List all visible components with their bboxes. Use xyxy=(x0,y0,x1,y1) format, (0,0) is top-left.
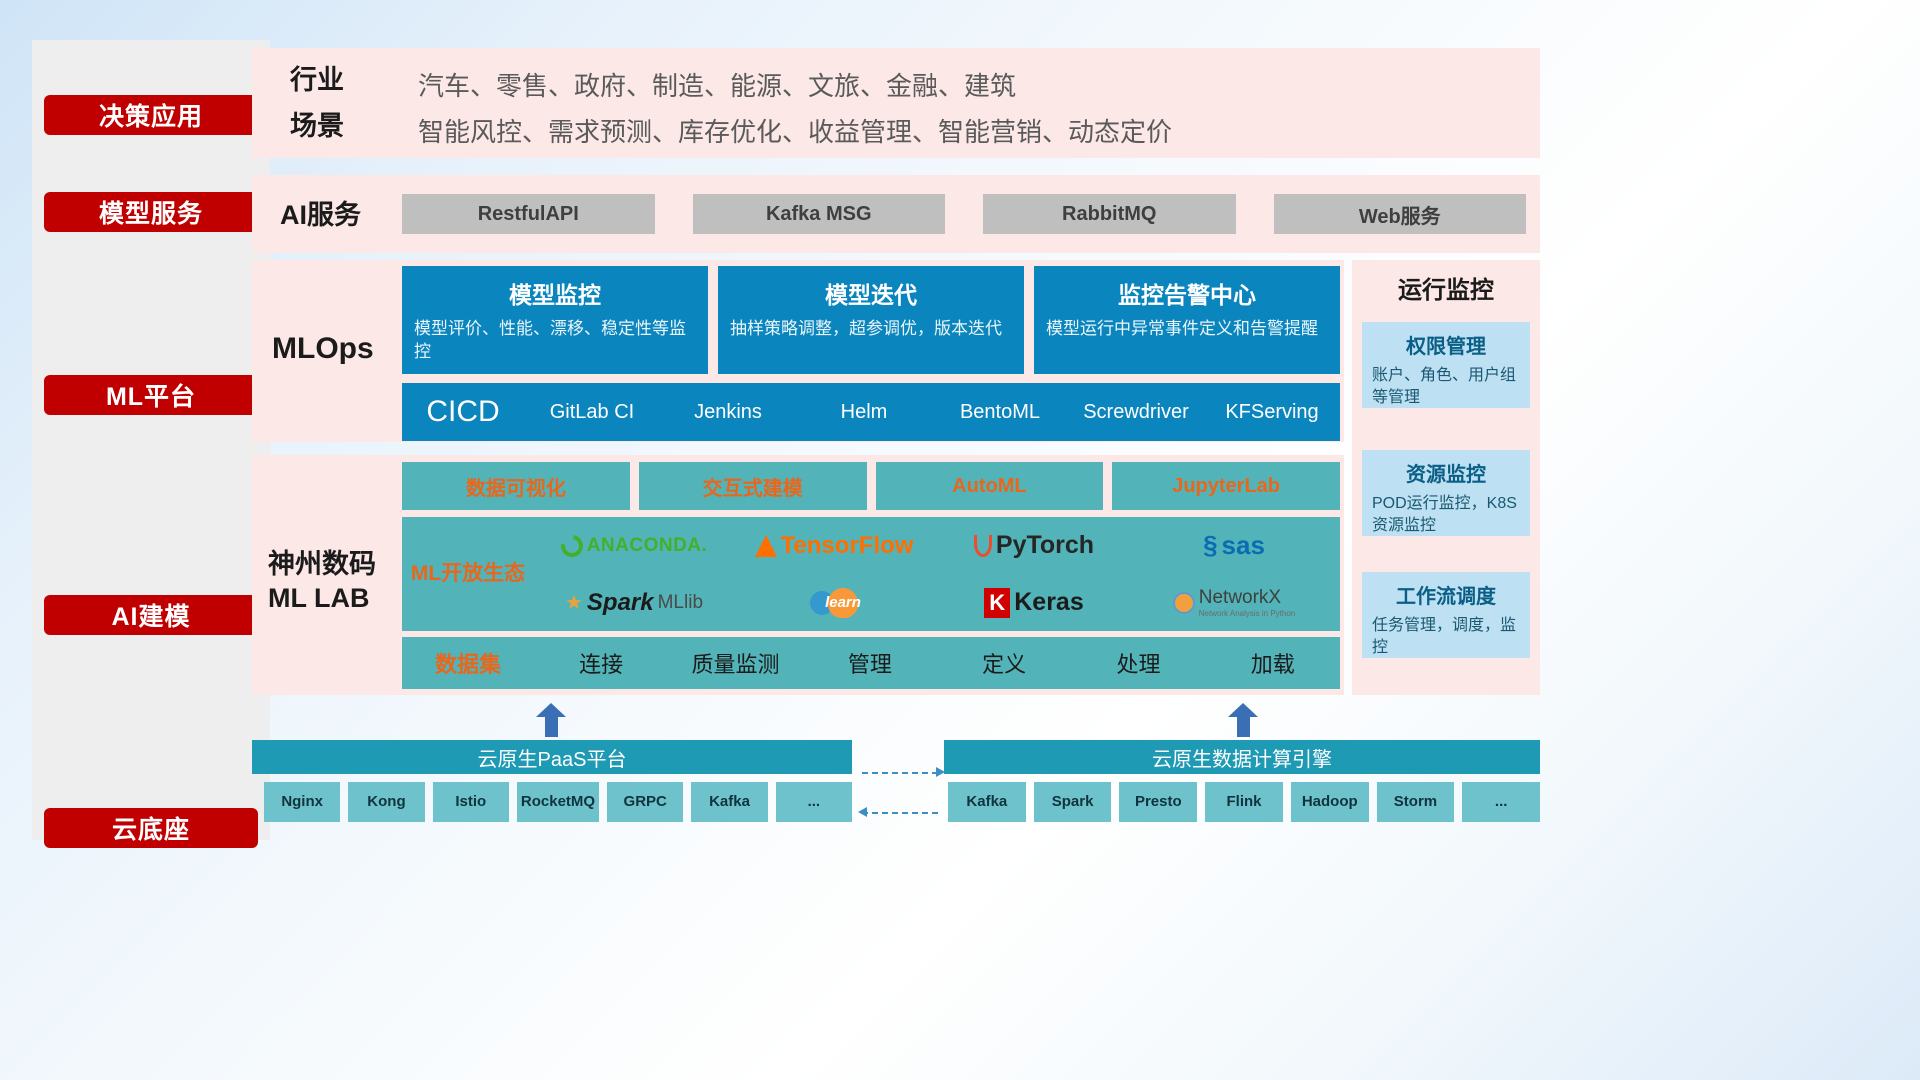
lab-chip-data-visualization[interactable]: 数据可视化 xyxy=(402,462,630,510)
logo-label: Keras xyxy=(1014,588,1084,617)
sidebar-item-label: AI建模 xyxy=(111,597,190,633)
logo-sublabel: Network Analysis in Python xyxy=(1199,609,1296,618)
chip-label: RestfulAPI xyxy=(478,203,579,226)
tag-presto[interactable]: Presto xyxy=(1119,782,1197,822)
tag-rocketmq[interactable]: RocketMQ xyxy=(517,782,599,822)
tag-spark[interactable]: Spark xyxy=(1034,782,1112,822)
mlops-card-model-monitoring[interactable]: 模型监控 模型评价、性能、漂移、稳定性等监控 xyxy=(402,266,708,374)
arrow-up-paas-icon xyxy=(536,703,566,737)
dashed-connector-right xyxy=(862,772,938,774)
ml-lab-label: 神州数码 ML LAB xyxy=(268,548,376,616)
dataset-item-process[interactable]: 处理 xyxy=(1071,647,1205,679)
dataset-item-connect[interactable]: 连接 xyxy=(534,647,668,679)
scikit-orange-blob-icon: learn xyxy=(828,588,858,618)
mlops-card-alert-center[interactable]: 监控告警中心 模型运行中异常事件定义和告警提醒 xyxy=(1034,266,1340,374)
cicd-item-helm[interactable]: Helm xyxy=(796,383,932,423)
ml-ecosystem-band: ML开放生态 ANACONDA. TensorFlow PyTorch § sa… xyxy=(402,517,1340,631)
cicd-item-gitlab-ci[interactable]: GitLab CI xyxy=(524,383,660,423)
monitor-card-resource[interactable]: 资源监控 POD运行监控，K8S资源监控 xyxy=(1362,450,1530,536)
sidebar-item-decision-app[interactable]: 决策应用 xyxy=(44,95,258,135)
tag-storm[interactable]: Storm xyxy=(1377,782,1455,822)
card-desc: 模型评价、性能、漂移、稳定性等监控 xyxy=(414,318,696,364)
sas-logo[interactable]: § sas xyxy=(1203,530,1265,561)
service-chip-kafka-msg[interactable]: Kafka MSG xyxy=(693,194,946,234)
pytorch-logo[interactable]: PyTorch xyxy=(974,531,1094,560)
industry-value: 汽车、零售、政府、制造、能源、文旅、金融、建筑 xyxy=(418,66,1016,103)
dashed-connector-left xyxy=(862,812,938,814)
logo-sublabel: MLlib xyxy=(658,592,703,614)
service-chip-web-service[interactable]: Web服务 xyxy=(1274,194,1527,234)
logo-label: sas xyxy=(1222,530,1265,561)
card-desc: 抽样策略调整，超参调优，版本迭代 xyxy=(730,318,1012,341)
networkx-logo[interactable]: NetworkX Network Analysis in Python xyxy=(1173,587,1296,618)
bar-label: 云原生数据计算引擎 xyxy=(1152,743,1332,772)
paas-tag-row: Nginx Kong Istio RocketMQ GRPC Kafka ... xyxy=(264,782,852,822)
card-title: 监控告警中心 xyxy=(1046,276,1328,310)
pytorch-flame-icon xyxy=(974,535,992,557)
scenario-value: 智能风控、需求预测、库存优化、收益管理、智能营销、动态定价 xyxy=(418,112,1172,149)
arrow-up-compute-icon xyxy=(1228,703,1258,737)
sidebar-item-model-service[interactable]: 模型服务 xyxy=(44,192,258,232)
cicd-bar: CICD GitLab CI Jenkins Helm BentoML Scre… xyxy=(402,383,1340,441)
monitor-card-workflow[interactable]: 工作流调度 任务管理，调度，监控 xyxy=(1362,572,1530,658)
industry-label: 行业 xyxy=(290,64,344,98)
cloud-compute-bar[interactable]: 云原生数据计算引擎 xyxy=(944,740,1540,774)
tag-kong[interactable]: Kong xyxy=(348,782,424,822)
card-desc: POD运行监控，K8S资源监控 xyxy=(1372,493,1520,536)
tag-grpc[interactable]: GRPC xyxy=(607,782,683,822)
tag-more-paas[interactable]: ... xyxy=(776,782,852,822)
compute-tag-row: Kafka Spark Presto Flink Hadoop Storm ..… xyxy=(948,782,1540,822)
sidebar-item-cloud-base[interactable]: 云底座 xyxy=(44,808,258,848)
ml-ecosystem-label: ML开放生态 xyxy=(402,561,534,586)
dataset-label: 数据集 xyxy=(402,647,534,679)
tag-more-compute[interactable]: ... xyxy=(1462,782,1540,822)
mlops-card-model-iteration[interactable]: 模型迭代 抽样策略调整，超参调优，版本迭代 xyxy=(718,266,1024,374)
ml-lab-label-line1: 神州数码 xyxy=(268,548,376,582)
card-desc: 账户、角色、用户组等管理 xyxy=(1372,365,1520,408)
lab-chip-jupyterlab[interactable]: JupyterLab xyxy=(1112,462,1340,510)
mlops-label: MLOps xyxy=(272,330,374,368)
lab-chip-automl[interactable]: AutoML xyxy=(876,462,1104,510)
architecture-diagram: 决策应用 模型服务 ML平台 AI建模 云底座 行业 汽车、零售、政府、制造、能… xyxy=(0,0,1920,1080)
tag-hadoop[interactable]: Hadoop xyxy=(1291,782,1369,822)
tag-istio[interactable]: Istio xyxy=(433,782,509,822)
lab-chip-interactive-modeling[interactable]: 交互式建模 xyxy=(639,462,867,510)
ai-service-chip-row: RestfulAPI Kafka MSG RabbitMQ Web服务 xyxy=(402,194,1526,234)
cicd-item-kfserving[interactable]: KFServing xyxy=(1204,383,1340,423)
card-title: 模型迭代 xyxy=(730,276,1012,310)
logo-label: PyTorch xyxy=(996,531,1094,560)
runtime-monitor-title: 运行监控 xyxy=(1352,262,1540,312)
sidebar-item-label: 决策应用 xyxy=(99,97,203,133)
dataset-item-define[interactable]: 定义 xyxy=(937,647,1071,679)
scenario-label: 场景 xyxy=(290,110,344,144)
logo-label-wrap: NetworkX Network Analysis in Python xyxy=(1199,587,1296,618)
keras-logo[interactable]: K Keras xyxy=(984,588,1084,618)
sidebar-item-label: 云底座 xyxy=(112,810,190,846)
cicd-label: CICD xyxy=(402,383,524,429)
chip-label: Kafka MSG xyxy=(766,203,872,226)
bar-label: 云原生PaaS平台 xyxy=(478,743,627,772)
sidebar-item-ml-platform[interactable]: ML平台 xyxy=(44,375,258,415)
spark-star-icon: ★ xyxy=(565,590,583,615)
dataset-item-quality-monitor[interactable]: 质量监测 xyxy=(668,647,802,679)
cicd-item-screwdriver[interactable]: Screwdriver xyxy=(1068,383,1204,423)
scikit-learn-logo[interactable]: learn xyxy=(810,588,858,618)
logo-label: NetworkX xyxy=(1199,587,1281,608)
cicd-item-jenkins[interactable]: Jenkins xyxy=(660,383,796,423)
sas-swirl-icon: § xyxy=(1203,530,1217,561)
card-title: 模型监控 xyxy=(414,276,696,310)
spark-mllib-logo[interactable]: ★ Spark MLlib xyxy=(565,589,703,617)
dataset-item-load[interactable]: 加载 xyxy=(1206,647,1340,679)
card-desc: 模型运行中异常事件定义和告警提醒 xyxy=(1046,318,1328,341)
tag-kafka-compute[interactable]: Kafka xyxy=(948,782,1026,822)
logo-label: Spark xyxy=(587,589,654,617)
ml-lab-label-line2: ML LAB xyxy=(268,582,376,616)
mlops-card-row: 模型监控 模型评价、性能、漂移、稳定性等监控 模型迭代 抽样策略调整，超参调优，… xyxy=(402,266,1340,374)
tensorflow-arrow-icon xyxy=(755,535,777,557)
card-title: 权限管理 xyxy=(1372,330,1520,359)
service-chip-rabbitmq[interactable]: RabbitMQ xyxy=(983,194,1236,234)
networkx-node-icon xyxy=(1173,592,1195,614)
tag-kafka[interactable]: Kafka xyxy=(691,782,767,822)
sidebar-item-label: 模型服务 xyxy=(99,194,203,230)
tensorflow-logo[interactable]: TensorFlow xyxy=(755,532,914,560)
dataset-band: 数据集 连接 质量监测 管理 定义 处理 加载 xyxy=(402,637,1340,689)
cicd-item-bentoml[interactable]: BentoML xyxy=(932,383,1068,423)
ml-ecosystem-logo-grid: ANACONDA. TensorFlow PyTorch § sas ★ Spa… xyxy=(534,517,1340,631)
chip-label: 数据可视化 xyxy=(466,472,566,501)
layer-sidebar: 决策应用 模型服务 ML平台 AI建模 云底座 xyxy=(32,40,270,840)
logo-label: TensorFlow xyxy=(781,532,914,560)
card-title: 工作流调度 xyxy=(1372,580,1520,609)
tag-flink[interactable]: Flink xyxy=(1205,782,1283,822)
logo-label: learn xyxy=(825,594,861,611)
chip-label: 交互式建模 xyxy=(703,472,803,501)
sidebar-item-label: ML平台 xyxy=(106,377,196,413)
chip-label: JupyterLab xyxy=(1172,475,1280,498)
cloud-paas-bar[interactable]: 云原生PaaS平台 xyxy=(252,740,852,774)
anaconda-ring-icon xyxy=(556,530,587,561)
dataset-item-manage[interactable]: 管理 xyxy=(803,647,937,679)
chip-label: AutoML xyxy=(952,475,1026,498)
tag-nginx[interactable]: Nginx xyxy=(264,782,340,822)
sidebar-item-ai-modeling[interactable]: AI建模 xyxy=(44,595,258,635)
service-chip-restfulapi[interactable]: RestfulAPI xyxy=(402,194,655,234)
ai-service-label: AI服务 xyxy=(280,199,361,233)
card-title: 资源监控 xyxy=(1372,458,1520,487)
monitor-card-permission[interactable]: 权限管理 账户、角色、用户组等管理 xyxy=(1362,322,1530,408)
logo-label: ANACONDA. xyxy=(587,535,708,557)
ml-lab-chip-row: 数据可视化 交互式建模 AutoML JupyterLab xyxy=(402,462,1340,510)
chip-label: RabbitMQ xyxy=(1062,203,1156,226)
dashed-arrow-left-icon xyxy=(858,807,867,817)
keras-k-icon: K xyxy=(984,588,1010,618)
card-desc: 任务管理，调度，监控 xyxy=(1372,615,1520,658)
dashed-arrow-right-icon xyxy=(936,767,945,777)
chip-label: Web服务 xyxy=(1359,200,1441,229)
anaconda-logo[interactable]: ANACONDA. xyxy=(561,535,708,557)
